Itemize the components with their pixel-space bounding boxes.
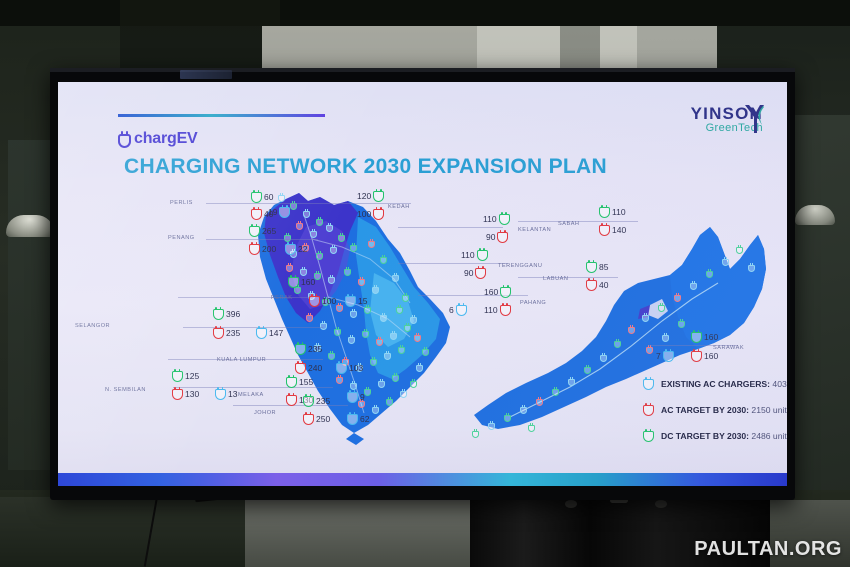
legend-text-dc-target: DC TARGET BY 2030: 2486 units <box>661 431 787 441</box>
map-pin <box>392 373 399 382</box>
green-charger-pin-icon <box>288 275 299 288</box>
map-pin <box>336 375 343 384</box>
state-existing-n-sembilan: 13 <box>215 387 237 400</box>
blue-charger-pin-icon <box>347 412 358 425</box>
state-label-perlis: PERLIS <box>170 200 193 206</box>
state-ac-kedah: 100 <box>357 207 384 220</box>
leader-line <box>398 227 503 228</box>
map-pin <box>316 217 323 226</box>
map-pin <box>614 339 621 348</box>
blue-charger-pin-icon <box>663 349 674 362</box>
state-ac-kuala-lumpur: 240 <box>295 361 322 374</box>
blue-charger-pin-icon <box>643 377 654 390</box>
red-charger-pin-icon <box>643 403 654 416</box>
state-existing-melaka: 9 <box>347 390 365 403</box>
map-pin <box>642 313 649 322</box>
red-charger-pin-icon <box>251 207 262 220</box>
map-pin <box>384 351 391 360</box>
map-pin <box>368 239 375 248</box>
red-charger-pin-icon <box>500 303 511 316</box>
green-charger-pin-icon <box>500 285 511 298</box>
map-pin <box>722 257 729 266</box>
charger-plug-icon <box>118 131 131 148</box>
map-pin <box>390 331 397 340</box>
map-pin <box>380 313 387 322</box>
page-title: CHARGING NETWORK 2030 EXPANSION PLAN <box>124 155 607 179</box>
state-label-kelantan: KELANTAN <box>518 227 551 233</box>
state-existing-penang: 22 <box>285 242 307 255</box>
map-pin <box>410 379 417 388</box>
leader-line <box>206 203 316 204</box>
map-pin <box>706 269 713 278</box>
red-charger-pin-icon <box>599 223 610 236</box>
state-ac-pahang: 110 <box>484 303 511 316</box>
map-pin <box>404 323 411 332</box>
state-ac-selangor: 235 <box>213 326 240 339</box>
blue-charger-pin-icon <box>285 242 296 255</box>
green-charger-pin-icon <box>251 190 262 203</box>
map-pin <box>278 193 285 202</box>
map-pin <box>330 245 337 254</box>
map-pin <box>328 351 335 360</box>
watermark: PAULTAN.ORG <box>694 538 842 561</box>
state-existing-johor: 62 <box>347 412 369 425</box>
green-charger-pin-icon <box>213 307 224 320</box>
leader-line <box>178 297 313 298</box>
map-pin <box>386 397 393 406</box>
leader-line <box>183 327 323 328</box>
map-pin <box>402 293 409 302</box>
red-charger-pin-icon <box>586 278 597 291</box>
state-dc-perak: 160 <box>288 275 315 288</box>
leader-line <box>418 295 528 296</box>
map-pin <box>310 229 317 238</box>
map-pin <box>646 345 653 354</box>
map-pin <box>320 321 327 330</box>
map-pin <box>286 263 293 272</box>
green-charger-pin-icon <box>599 205 610 218</box>
blue-charger-pin-icon <box>456 303 467 316</box>
state-label-pahang: PAHANG <box>520 300 546 306</box>
chargev-wordmark: chargEV <box>134 130 198 148</box>
yinson-y-mark <box>743 104 765 134</box>
legend-item-existing: EXISTING AC CHARGERS: 403 units <box>643 377 787 390</box>
yinson-greentech-logo: YINSON GreenTech <box>691 104 763 134</box>
state-existing-kuala-lumpur: 103 <box>336 361 363 374</box>
map-pin <box>372 285 379 294</box>
state-label-perak: PERAK <box>271 295 292 301</box>
legend-item-ac-target: AC TARGET BY 2030: 2150 units <box>643 403 787 416</box>
map-pin <box>536 397 543 406</box>
slide-footer-band <box>58 473 787 486</box>
state-existing-pahang: 6 <box>449 303 467 316</box>
state-ac-penang: 200 <box>249 242 276 255</box>
blue-charger-pin-icon <box>345 294 356 307</box>
blue-charger-pin-icon <box>279 205 290 218</box>
state-label-selangor: SELANGOR <box>75 323 110 329</box>
title-accent-rule <box>118 114 325 117</box>
map-pin <box>678 319 685 328</box>
red-charger-pin-icon <box>373 207 384 220</box>
map-pin <box>326 223 333 232</box>
presentation-slide: chargEV CHARGING NETWORK 2030 EXPANSION … <box>58 82 787 486</box>
state-ac-terengganu: 90 <box>464 266 486 279</box>
pendant-lamp-left <box>6 215 54 237</box>
legend-text-ac-target: AC TARGET BY 2030: 2150 units <box>661 405 787 415</box>
state-dc-terengganu: 110 <box>461 248 488 261</box>
state-dc-melaka: 155 <box>286 375 313 388</box>
state-dc-sarawak: 160 <box>691 330 718 343</box>
map-pin <box>303 209 310 218</box>
room-ceiling-recess <box>120 0 280 26</box>
map-pin <box>504 413 511 422</box>
state-dc-n-sembilan: 125 <box>172 369 199 382</box>
state-ac-sabah: 140 <box>599 223 626 236</box>
map-pin <box>472 429 479 438</box>
state-ac-perak: 100 <box>309 294 336 307</box>
red-charger-pin-icon <box>286 393 297 406</box>
state-label-n-sembilan: N. SEMBILAN <box>105 387 146 393</box>
room-floor-panel <box>245 497 480 567</box>
map-pin <box>358 277 365 286</box>
photo-scene: chargEV CHARGING NETWORK 2030 EXPANSION … <box>0 0 850 567</box>
state-dc-labuan: 85 <box>586 260 608 273</box>
map-pin <box>416 363 423 372</box>
map-pin <box>662 333 669 342</box>
map-pin <box>552 387 559 396</box>
television-display: chargEV CHARGING NETWORK 2030 EXPANSION … <box>50 68 795 500</box>
green-charger-pin-icon <box>643 429 654 442</box>
map-pin <box>400 389 407 398</box>
map-pin <box>568 377 575 386</box>
state-dc-johor: 235 <box>303 394 330 407</box>
blue-charger-pin-icon <box>347 390 358 403</box>
state-label-johor: JOHOR <box>254 410 276 416</box>
map-pin <box>584 365 591 374</box>
state-dc-kelantan: 110 <box>483 212 510 225</box>
red-charger-pin-icon <box>691 349 702 362</box>
state-label-penang: PENANG <box>168 235 195 241</box>
green-charger-pin-icon <box>477 248 488 261</box>
blue-charger-pin-icon <box>256 326 267 339</box>
legend-item-dc-target: DC TARGET BY 2030: 2486 units <box>643 429 787 442</box>
map-pin <box>600 353 607 362</box>
blue-charger-pin-icon <box>215 387 226 400</box>
green-charger-pin-icon <box>691 330 702 343</box>
state-dc-pahang: 160 <box>484 285 511 298</box>
state-ac-sarawak: 160 <box>691 349 718 362</box>
drape-detail-left <box>565 500 577 508</box>
red-charger-pin-icon <box>497 230 508 243</box>
leader-line <box>398 263 508 264</box>
state-ac-labuan: 40 <box>586 278 608 291</box>
state-existing-perak: 15 <box>345 294 367 307</box>
state-label-melaka: MELAKA <box>238 392 264 398</box>
map-pin <box>344 267 351 276</box>
map-pin <box>284 233 291 242</box>
map-pin <box>334 327 341 336</box>
green-charger-pin-icon <box>172 369 183 382</box>
map-pin <box>520 405 527 414</box>
map-pin <box>422 347 429 356</box>
map-pin <box>328 275 335 284</box>
map-pin <box>376 337 383 346</box>
map-pin <box>348 335 355 344</box>
green-charger-pin-icon <box>249 224 260 237</box>
state-ac-n-sembilan: 130 <box>172 387 199 400</box>
map-pin <box>396 305 403 314</box>
state-existing-sarawak: 7 <box>656 349 674 362</box>
map-pin <box>338 233 345 242</box>
red-charger-pin-icon <box>249 242 260 255</box>
map-pin <box>398 345 405 354</box>
map-pin <box>350 309 357 318</box>
map-pin <box>528 423 535 432</box>
map-pin <box>378 379 385 388</box>
state-label-kedah: KEDAH <box>388 204 410 210</box>
state-dc-kedah: 120 <box>357 189 384 202</box>
map-pin <box>392 273 399 282</box>
state-dc-sabah: 110 <box>599 205 626 218</box>
tv-brand-logo <box>180 70 232 79</box>
legend-text-existing: EXISTING AC CHARGERS: 403 units <box>661 379 787 389</box>
legend: EXISTING AC CHARGERS: 403 units AC TARGE… <box>643 377 787 455</box>
state-dc-penang: 265 <box>249 224 276 237</box>
map-pin <box>488 421 495 430</box>
map-pin <box>674 293 681 302</box>
map-pin <box>362 329 369 338</box>
green-charger-pin-icon <box>373 189 384 202</box>
map-pin <box>690 281 697 290</box>
green-charger-pin-icon <box>286 375 297 388</box>
map-pin <box>736 245 743 254</box>
chargev-logo: chargEV <box>118 130 198 148</box>
room-floor-left <box>0 497 250 567</box>
map-pin <box>350 243 357 252</box>
map-pin <box>748 263 755 272</box>
state-ac-kelantan: 90 <box>486 230 508 243</box>
blue-charger-pin-icon <box>336 361 347 374</box>
green-charger-pin-icon <box>586 260 597 273</box>
state-label-kuala-lumpur: KUALA LUMPUR <box>217 357 266 363</box>
map-pin <box>380 255 387 264</box>
map-pin <box>628 325 635 334</box>
map-pin <box>350 381 357 390</box>
drape-detail-right <box>655 500 667 508</box>
state-label-labuan: LABUAN <box>543 276 568 282</box>
tv-bezel-top <box>50 68 795 72</box>
red-charger-pin-icon <box>213 326 224 339</box>
state-dc-perlis: 60 <box>251 190 273 203</box>
red-charger-pin-icon <box>309 294 320 307</box>
map-pin <box>306 313 313 322</box>
green-charger-pin-icon <box>303 394 314 407</box>
state-label-terengganu: TERENGGANU <box>498 263 542 269</box>
map-pin <box>372 405 379 414</box>
state-dc-selangor: 396 <box>213 307 240 320</box>
map-pin <box>370 357 377 366</box>
map-pin <box>364 387 371 396</box>
map-pin <box>658 303 665 312</box>
red-charger-pin-icon <box>172 387 183 400</box>
red-charger-pin-icon <box>295 361 306 374</box>
pendant-lamp-right <box>795 205 835 225</box>
state-dc-kuala-lumpur: 235 <box>295 342 322 355</box>
map-pin <box>296 221 303 230</box>
map-pin <box>414 333 421 342</box>
state-label-sabah: SABAH <box>558 221 579 227</box>
map-pin <box>336 303 343 312</box>
red-charger-pin-icon <box>475 266 486 279</box>
leader-line <box>206 239 318 240</box>
state-ac-johor: 250 <box>303 412 330 425</box>
green-charger-pin-icon <box>295 342 306 355</box>
red-charger-pin-icon <box>303 412 314 425</box>
state-existing-kedah: 19 <box>268 205 290 218</box>
state-existing-selangor: 147 <box>256 326 283 339</box>
green-charger-pin-icon <box>499 212 510 225</box>
map-pin <box>316 251 323 260</box>
map-pin <box>410 315 417 324</box>
